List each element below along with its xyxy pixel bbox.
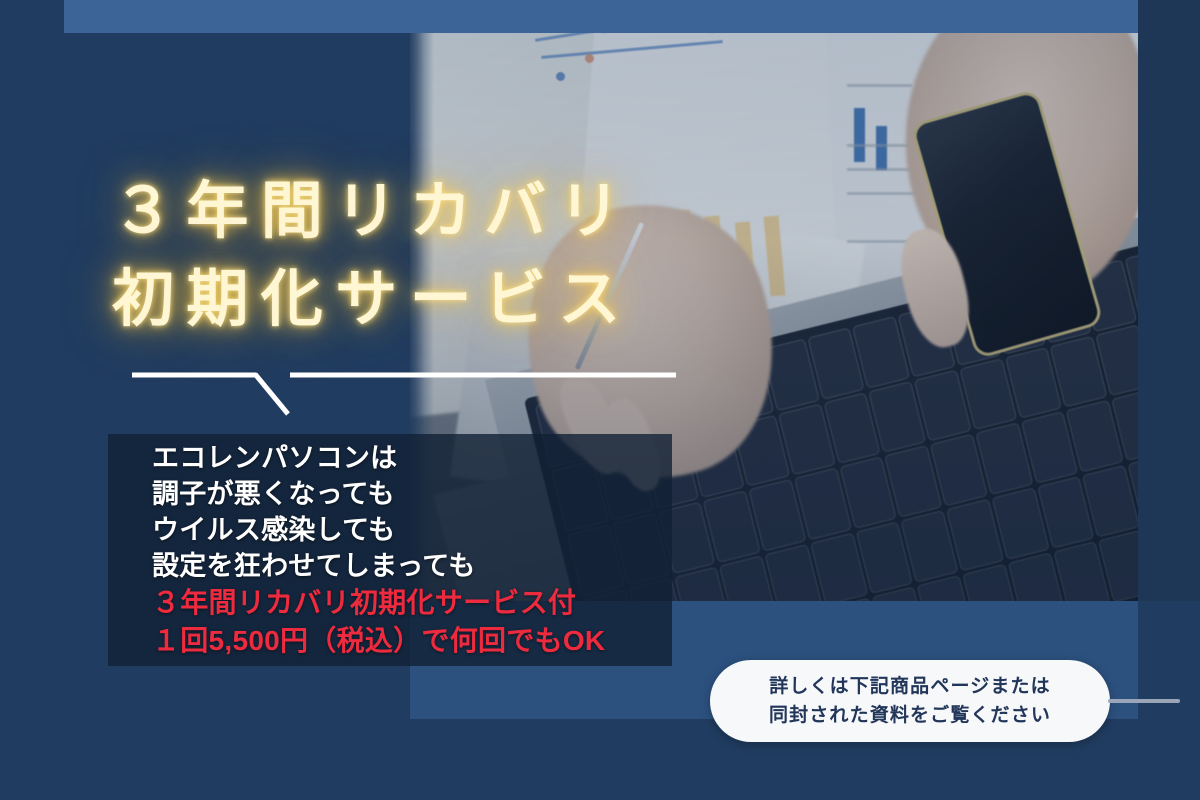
- top-blue-band: [64, 0, 1138, 33]
- body-text-block: エコレンパソコンは 調子が悪くなっても ウイルス感染しても 設定を狂わせてしまっ…: [152, 440, 712, 660]
- body-line: エコレンパソコンは: [152, 440, 712, 476]
- body-line-highlight: ３年間リカバリ初期化サービス付: [152, 584, 712, 622]
- callout-line-2: 同封された資料をご覧ください: [769, 701, 1051, 730]
- callout-tail-line: [1108, 699, 1180, 703]
- body-line: 調子が悪くなっても: [152, 476, 712, 512]
- callout-line-1: 詳しくは下記商品ページまたは: [769, 672, 1051, 701]
- body-line-highlight: １回5,500円（税込）で何回でもOK: [152, 622, 712, 660]
- page-title: ３年間リカバリ 初期化サービス: [112, 168, 872, 344]
- promotional-banner: ３年間リカバリ 初期化サービス エコレンパソコンは 調子が悪くなっても ウイルス…: [0, 0, 1200, 800]
- body-line: 設定を狂わせてしまっても: [152, 548, 712, 584]
- callout-pill[interactable]: 詳しくは下記商品ページまたは 同封された資料をご覧ください: [710, 660, 1110, 742]
- body-line: ウイルス感染しても: [152, 512, 712, 548]
